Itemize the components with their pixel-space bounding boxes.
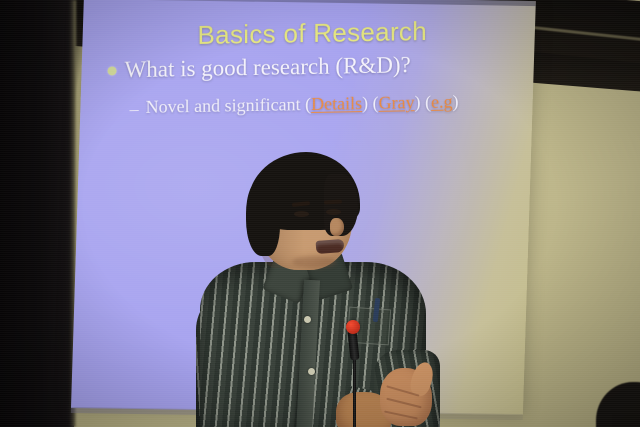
bullet-dot-icon xyxy=(108,66,117,75)
speaker-figure xyxy=(196,140,446,427)
microphone-head-icon xyxy=(346,320,360,334)
microphone-stand xyxy=(353,352,356,427)
slide-link-eg[interactable]: e.g xyxy=(431,92,453,112)
eye-left xyxy=(294,211,309,217)
link-3-close: ) xyxy=(453,91,459,111)
audience-neck xyxy=(612,414,640,427)
slide-sub-bullet-1-text: Novel and significant (Details) (Gray) (… xyxy=(146,91,459,117)
slide-link-gray[interactable]: Gray xyxy=(379,92,415,113)
eye-right xyxy=(326,209,341,215)
sub-bullet-dash-icon: – xyxy=(130,99,139,120)
link-3-open: ( xyxy=(421,92,432,112)
sub-bullet-lead-text: Novel and significant xyxy=(146,94,306,117)
lecture-photo-scene: Basics of Research What is good research… xyxy=(0,0,640,427)
speaker-hair-side xyxy=(246,180,280,256)
slide-bullet-1-text: What is good research (R&D)? xyxy=(125,52,411,82)
slide-link-details[interactable]: Details xyxy=(311,93,362,114)
shirt-button-upper xyxy=(304,316,311,323)
slide-bullet-1: What is good research (R&D)? xyxy=(108,52,411,83)
slide-title: Basics of Research xyxy=(197,16,426,51)
chin-shadow xyxy=(292,256,336,268)
left-curtain xyxy=(0,0,74,427)
nose xyxy=(330,218,344,236)
slide-sub-bullet-1: – Novel and significant (Details) (Gray)… xyxy=(130,91,459,120)
link-2-open: ( xyxy=(368,93,379,113)
shirt-button-lower xyxy=(308,368,315,375)
